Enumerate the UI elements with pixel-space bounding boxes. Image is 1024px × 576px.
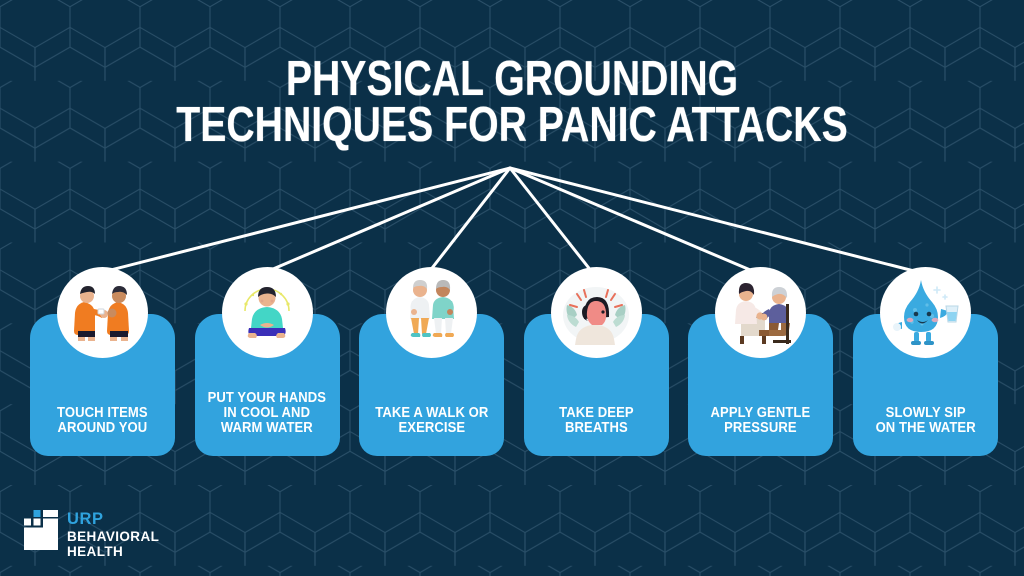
water-drop-mascot-with-glass-icon [880, 267, 971, 358]
technique-card-row: TOUCH ITEMS AROUND YOU [30, 314, 998, 456]
technique-card-4[interactable]: TAKE DEEP BREATHS [524, 314, 669, 456]
technique-card-5-label: APPLY GENTLE PRESSURE [707, 406, 814, 436]
brand-logo-line-3: HEALTH [67, 545, 159, 559]
technique-card-1-label: TOUCH ITEMS AROUND YOU [54, 406, 152, 436]
technique-card-5[interactable]: APPLY GENTLE PRESSURE [688, 314, 833, 456]
brand-logo[interactable]: URP BEHAVIORAL HEALTH [24, 510, 159, 559]
technique-card-4-label: TAKE DEEP BREATHS [555, 406, 637, 436]
urp-pixel-block-logo-mark-icon [24, 510, 58, 550]
technique-card-2[interactable]: PUT YOUR HANDS IN COOL AND WARM WATER [195, 314, 340, 456]
technique-card-1[interactable]: TOUCH ITEMS AROUND YOU [30, 314, 175, 456]
brand-logo-line-1: URP [67, 511, 159, 528]
page-title-line-2: TECHNIQUES FOR PANIC ATTACKS [102, 103, 921, 149]
page-title-line-1: PHYSICAL GROUNDING [102, 57, 921, 103]
brand-logo-text: URP BEHAVIORAL HEALTH [67, 510, 159, 559]
infographic-canvas: PHYSICAL GROUNDING TECHNIQUES FOR PANIC … [0, 0, 1024, 576]
page-title: PHYSICAL GROUNDING TECHNIQUES FOR PANIC … [0, 57, 1024, 148]
caregiver-applying-pressure-icon [715, 267, 806, 358]
technique-card-3-label: TAKE A WALK OR EXERCISE [372, 406, 492, 436]
technique-card-2-label: PUT YOUR HANDS IN COOL AND WARM WATER [204, 391, 330, 436]
technique-card-6-label: SLOWLY SIP ON THE WATER [872, 406, 979, 436]
two-people-walking-icon [386, 267, 477, 358]
two-people-touching-hands-icon [57, 267, 148, 358]
person-meditating-icon [222, 267, 313, 358]
brand-logo-line-2: BEHAVIORAL [67, 530, 159, 544]
technique-card-6[interactable]: SLOWLY SIP ON THE WATER [853, 314, 998, 456]
technique-card-3[interactable]: TAKE A WALK OR EXERCISE [359, 314, 504, 456]
woman-breathing-calmly-icon [551, 267, 642, 358]
